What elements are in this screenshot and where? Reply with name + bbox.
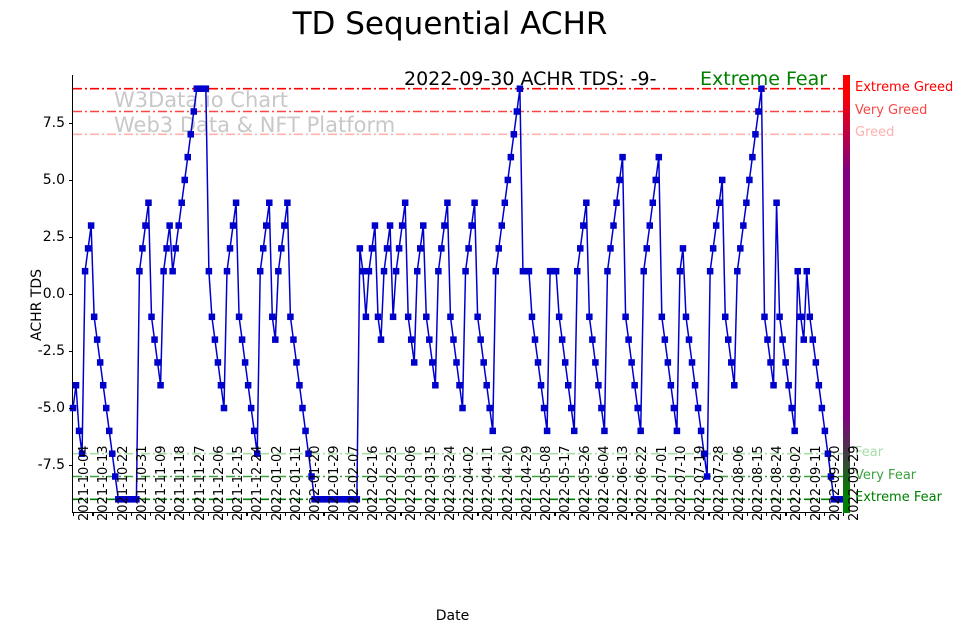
data-point-marker bbox=[88, 222, 94, 229]
data-point-marker bbox=[659, 314, 666, 321]
y-tick-mark bbox=[69, 408, 73, 409]
data-point-marker bbox=[212, 336, 219, 343]
data-point-marker bbox=[804, 268, 811, 275]
data-point-marker bbox=[586, 314, 593, 321]
x-tick-mark bbox=[343, 512, 344, 516]
x-tick-label: 2021-11-09 bbox=[154, 445, 169, 521]
page-title: TD Sequential ACHR bbox=[0, 6, 900, 42]
x-tick-label: 2022-07-01 bbox=[655, 445, 670, 521]
data-point-marker bbox=[674, 428, 681, 435]
data-point-marker bbox=[562, 359, 569, 366]
x-tick-label: 2022-01-20 bbox=[308, 445, 323, 521]
x-tick-mark bbox=[651, 512, 652, 516]
data-point-marker bbox=[695, 405, 702, 412]
x-tick-mark bbox=[689, 512, 690, 516]
data-point-marker bbox=[178, 200, 185, 207]
x-tick-label: 2022-05-26 bbox=[578, 445, 593, 521]
data-point-marker bbox=[450, 336, 457, 343]
threshold-label-greed: Greed bbox=[855, 125, 894, 140]
series-line bbox=[73, 89, 843, 500]
data-point-marker bbox=[628, 359, 635, 366]
x-tick-mark bbox=[785, 512, 786, 516]
data-point-marker bbox=[293, 359, 300, 366]
data-point-marker bbox=[580, 222, 587, 229]
data-point-marker bbox=[191, 108, 198, 115]
data-point-marker bbox=[517, 85, 524, 92]
data-point-marker bbox=[731, 382, 738, 389]
data-point-marker bbox=[607, 245, 614, 252]
x-tick-label: 2022-03-15 bbox=[424, 445, 439, 521]
data-point-marker bbox=[465, 245, 472, 252]
data-point-marker bbox=[408, 336, 415, 343]
data-point-marker bbox=[429, 359, 436, 366]
x-tick-label: 2022-08-15 bbox=[751, 445, 766, 521]
data-point-marker bbox=[278, 245, 285, 252]
x-tick-label: 2022-01-29 bbox=[327, 445, 342, 521]
x-tick-label: 2022-03-24 bbox=[443, 445, 458, 521]
data-point-marker bbox=[737, 245, 744, 252]
data-point-marker bbox=[698, 428, 705, 435]
x-tick-label: 2022-04-29 bbox=[520, 445, 535, 521]
data-point-marker bbox=[544, 428, 551, 435]
x-tick-label: 2022-09-29 bbox=[847, 445, 862, 521]
data-point-marker bbox=[719, 177, 726, 184]
x-tick-label: 2022-05-08 bbox=[539, 445, 554, 521]
data-point-marker bbox=[203, 85, 210, 92]
x-tick-label: 2022-03-06 bbox=[404, 445, 419, 521]
data-point-marker bbox=[514, 108, 521, 115]
y-tick-mark bbox=[69, 465, 73, 466]
y-tick-mark bbox=[69, 180, 73, 181]
data-point-marker bbox=[568, 405, 575, 412]
data-point-marker bbox=[175, 222, 182, 229]
y-tick-label: -7.5 bbox=[5, 457, 65, 473]
data-point-marker bbox=[728, 359, 735, 366]
x-tick-label: 2022-02-16 bbox=[366, 445, 381, 521]
data-point-marker bbox=[103, 405, 110, 412]
data-point-marker bbox=[734, 268, 741, 275]
data-point-marker bbox=[166, 222, 173, 229]
data-point-marker bbox=[791, 428, 798, 435]
data-point-marker bbox=[209, 314, 216, 321]
x-tick-label: 2022-08-06 bbox=[732, 445, 747, 521]
data-point-marker bbox=[260, 245, 267, 252]
data-point-marker bbox=[266, 200, 273, 207]
y-tick-label: 0.0 bbox=[5, 286, 65, 302]
data-point-marker bbox=[426, 336, 433, 343]
data-point-marker bbox=[251, 428, 258, 435]
data-point-marker bbox=[76, 428, 83, 435]
x-tick-mark bbox=[92, 512, 93, 516]
x-tick-mark bbox=[73, 512, 74, 516]
figure: TD Sequential ACHR W3Data.io Chart Web3 … bbox=[0, 0, 967, 633]
data-point-marker bbox=[752, 131, 759, 138]
data-point-marker bbox=[598, 405, 605, 412]
data-point-marker bbox=[441, 222, 448, 229]
data-point-marker bbox=[148, 314, 155, 321]
data-point-marker bbox=[643, 245, 650, 252]
data-point-marker bbox=[296, 382, 303, 389]
data-point-marker bbox=[511, 131, 518, 138]
y-tick-label: 5.0 bbox=[5, 172, 65, 188]
data-point-marker bbox=[459, 405, 466, 412]
data-point-marker bbox=[810, 336, 817, 343]
data-point-marker bbox=[82, 268, 89, 275]
data-point-marker bbox=[489, 428, 496, 435]
data-point-marker bbox=[245, 382, 252, 389]
data-point-marker bbox=[411, 359, 418, 366]
data-point-marker bbox=[185, 154, 192, 161]
data-point-marker bbox=[755, 108, 762, 115]
data-point-marker bbox=[188, 131, 195, 138]
data-point-marker bbox=[779, 336, 786, 343]
data-point-marker bbox=[574, 268, 581, 275]
x-axis-label: Date bbox=[0, 608, 905, 624]
data-point-marker bbox=[263, 222, 270, 229]
data-point-marker bbox=[483, 382, 490, 389]
y-tick-label: 7.5 bbox=[5, 115, 65, 131]
data-point-marker bbox=[526, 268, 533, 275]
data-point-marker bbox=[758, 85, 765, 92]
x-tick-label: 2022-01-11 bbox=[289, 445, 304, 521]
data-point-marker bbox=[163, 245, 170, 252]
data-point-marker bbox=[438, 245, 445, 252]
x-tick-label: 2022-07-19 bbox=[693, 445, 708, 521]
data-point-marker bbox=[650, 200, 657, 207]
data-point-marker bbox=[529, 314, 536, 321]
x-tick-mark bbox=[420, 512, 421, 516]
data-point-marker bbox=[788, 405, 795, 412]
data-point-marker bbox=[447, 314, 454, 321]
data-point-marker bbox=[634, 405, 641, 412]
data-point-marker bbox=[206, 268, 213, 275]
data-point-marker bbox=[405, 314, 412, 321]
data-point-marker bbox=[233, 200, 240, 207]
data-point-marker bbox=[169, 268, 176, 275]
data-point-marker bbox=[819, 405, 826, 412]
data-point-marker bbox=[653, 177, 660, 184]
threshold-label-very-greed: Very Greed bbox=[855, 103, 927, 118]
data-point-marker bbox=[716, 200, 723, 207]
data-point-marker bbox=[553, 268, 560, 275]
data-point-marker bbox=[556, 314, 563, 321]
y-tick-mark bbox=[69, 351, 73, 352]
data-point-marker bbox=[532, 336, 539, 343]
data-point-marker bbox=[619, 154, 626, 161]
data-point-marker bbox=[613, 200, 620, 207]
x-tick-mark bbox=[535, 512, 536, 516]
data-point-marker bbox=[417, 245, 424, 252]
data-point-marker bbox=[671, 405, 678, 412]
data-point-marker bbox=[444, 200, 451, 207]
data-point-marker bbox=[73, 382, 80, 389]
data-point-marker bbox=[100, 382, 107, 389]
data-point-marker bbox=[683, 314, 690, 321]
data-point-marker bbox=[399, 222, 406, 229]
data-point-marker bbox=[181, 177, 188, 184]
data-point-marker bbox=[435, 268, 442, 275]
data-point-marker bbox=[142, 222, 149, 229]
data-point-marker bbox=[480, 359, 487, 366]
data-point-marker bbox=[665, 359, 672, 366]
x-tick-mark bbox=[574, 512, 575, 516]
data-point-marker bbox=[363, 314, 370, 321]
data-point-marker bbox=[172, 245, 179, 252]
data-point-marker bbox=[366, 268, 373, 275]
x-tick-label: 2022-07-28 bbox=[712, 445, 727, 521]
data-point-marker bbox=[275, 268, 282, 275]
data-point-marker bbox=[807, 314, 814, 321]
data-point-marker bbox=[423, 314, 430, 321]
data-point-marker bbox=[625, 336, 632, 343]
x-tick-label: 2022-06-13 bbox=[616, 445, 631, 521]
data-point-marker bbox=[281, 222, 288, 229]
x-tick-label: 2022-04-11 bbox=[481, 445, 496, 521]
data-point-marker bbox=[94, 336, 101, 343]
data-point-marker bbox=[773, 200, 780, 207]
data-point-marker bbox=[583, 200, 590, 207]
x-tick-label: 2022-06-04 bbox=[597, 445, 612, 521]
data-point-marker bbox=[414, 268, 421, 275]
data-point-marker bbox=[656, 154, 663, 161]
data-point-marker bbox=[378, 336, 385, 343]
data-point-marker bbox=[372, 222, 379, 229]
data-point-marker bbox=[269, 314, 276, 321]
data-point-marker bbox=[221, 405, 228, 412]
x-tick-mark bbox=[169, 512, 170, 516]
data-point-marker bbox=[387, 222, 394, 229]
data-point-marker bbox=[91, 314, 98, 321]
data-point-marker bbox=[764, 336, 771, 343]
x-tick-label: 2021-11-18 bbox=[173, 445, 188, 521]
data-point-marker bbox=[139, 245, 146, 252]
data-point-marker bbox=[151, 336, 158, 343]
data-point-marker bbox=[746, 177, 753, 184]
data-point-marker bbox=[785, 382, 792, 389]
data-point-marker bbox=[360, 268, 367, 275]
data-point-marker bbox=[160, 268, 167, 275]
data-point-marker bbox=[538, 382, 545, 389]
data-point-marker bbox=[595, 382, 602, 389]
data-point-marker bbox=[707, 268, 714, 275]
x-tick-label: 2021-10-22 bbox=[116, 445, 131, 521]
y-tick-label: -5.0 bbox=[5, 400, 65, 416]
data-point-marker bbox=[725, 336, 732, 343]
data-point-marker bbox=[236, 314, 243, 321]
x-tick-mark bbox=[150, 512, 151, 516]
data-point-marker bbox=[761, 314, 768, 321]
data-point-marker bbox=[541, 405, 548, 412]
y-tick-mark bbox=[69, 294, 73, 295]
x-tick-mark bbox=[266, 512, 267, 516]
x-tick-mark bbox=[458, 512, 459, 516]
y-axis-label: ACHR TDS bbox=[29, 269, 45, 341]
data-point-marker bbox=[502, 200, 509, 207]
x-tick-mark bbox=[708, 512, 709, 516]
threshold-label-extreme-greed: Extreme Greed bbox=[855, 80, 953, 95]
x-tick-label: 2021-12-24 bbox=[250, 445, 265, 521]
threshold-label-very-fear: Very Fear bbox=[855, 468, 916, 483]
x-tick-label: 2022-07-10 bbox=[674, 445, 689, 521]
data-point-marker bbox=[592, 359, 599, 366]
x-tick-mark bbox=[728, 512, 729, 516]
data-point-marker bbox=[499, 222, 506, 229]
data-point-marker bbox=[508, 154, 514, 161]
data-point-marker bbox=[631, 382, 638, 389]
data-point-marker bbox=[290, 336, 297, 343]
data-point-marker bbox=[713, 222, 720, 229]
data-point-marker bbox=[797, 314, 804, 321]
data-point-marker bbox=[535, 359, 542, 366]
data-point-marker bbox=[215, 359, 222, 366]
data-point-marker bbox=[272, 336, 279, 343]
data-point-marker bbox=[616, 177, 623, 184]
data-point-marker bbox=[813, 359, 820, 366]
data-point-marker bbox=[381, 268, 388, 275]
data-point-marker bbox=[420, 222, 427, 229]
data-point-marker bbox=[230, 222, 237, 229]
x-tick-mark bbox=[805, 512, 806, 516]
y-tick-label: 2.5 bbox=[5, 229, 65, 245]
data-point-marker bbox=[640, 268, 647, 275]
x-tick-mark bbox=[304, 512, 305, 516]
data-point-marker bbox=[284, 200, 291, 207]
x-tick-label: 2021-10-04 bbox=[77, 445, 92, 521]
x-tick-label: 2022-02-07 bbox=[347, 445, 362, 521]
y-tick-mark bbox=[69, 123, 73, 124]
x-tick-mark bbox=[381, 512, 382, 516]
data-point-marker bbox=[248, 405, 255, 412]
data-point-marker bbox=[456, 382, 463, 389]
x-tick-mark bbox=[189, 512, 190, 516]
data-point-marker bbox=[794, 268, 801, 275]
data-point-marker bbox=[474, 314, 481, 321]
x-tick-label: 2022-05-17 bbox=[558, 445, 573, 521]
data-point-marker bbox=[782, 359, 789, 366]
data-point-marker bbox=[601, 428, 608, 435]
x-tick-label: 2022-01-02 bbox=[270, 445, 285, 521]
data-point-marker bbox=[743, 200, 750, 207]
data-point-marker bbox=[227, 245, 234, 252]
x-tick-mark bbox=[246, 512, 247, 516]
data-point-marker bbox=[239, 336, 246, 343]
x-tick-mark bbox=[400, 512, 401, 516]
data-point-marker bbox=[776, 314, 783, 321]
x-tick-mark bbox=[631, 512, 632, 516]
data-point-marker bbox=[565, 382, 572, 389]
data-point-marker bbox=[710, 245, 717, 252]
x-tick-label: 2021-12-15 bbox=[231, 445, 246, 521]
data-point-marker bbox=[136, 268, 143, 275]
series-plot bbox=[73, 75, 843, 513]
data-point-marker bbox=[559, 336, 566, 343]
data-point-marker bbox=[299, 405, 306, 412]
data-point-marker bbox=[224, 268, 231, 275]
threshold-label-extreme-fear: Extreme Fear bbox=[855, 490, 942, 505]
data-point-marker bbox=[647, 222, 654, 229]
data-point-marker bbox=[610, 222, 617, 229]
data-point-marker bbox=[692, 382, 699, 389]
data-point-marker bbox=[689, 359, 696, 366]
x-tick-mark bbox=[227, 512, 228, 516]
x-tick-label: 2021-10-13 bbox=[96, 445, 111, 521]
data-point-marker bbox=[622, 314, 629, 321]
x-tick-mark bbox=[766, 512, 767, 516]
data-point-marker bbox=[637, 428, 644, 435]
data-point-marker bbox=[402, 200, 409, 207]
data-point-marker bbox=[493, 268, 500, 275]
data-point-marker bbox=[662, 336, 669, 343]
x-tick-label: 2022-04-20 bbox=[501, 445, 516, 521]
data-point-marker bbox=[471, 200, 478, 207]
data-point-marker bbox=[257, 268, 264, 275]
data-point-marker bbox=[571, 428, 578, 435]
data-point-marker bbox=[97, 359, 104, 366]
x-tick-label: 2021-11-27 bbox=[193, 445, 208, 521]
data-point-marker bbox=[432, 382, 439, 389]
data-point-marker bbox=[604, 268, 611, 275]
data-point-marker bbox=[770, 382, 777, 389]
x-tick-label: 2022-08-24 bbox=[770, 445, 785, 521]
data-point-marker bbox=[816, 382, 823, 389]
data-point-marker bbox=[218, 382, 225, 389]
x-tick-mark bbox=[323, 512, 324, 516]
x-tick-mark bbox=[554, 512, 555, 516]
data-point-marker bbox=[740, 222, 747, 229]
data-point-marker bbox=[390, 314, 397, 321]
data-point-marker bbox=[722, 314, 729, 321]
y-tick-label: -2.5 bbox=[5, 343, 65, 359]
data-point-marker bbox=[375, 314, 382, 321]
data-point-marker bbox=[287, 314, 294, 321]
data-point-marker bbox=[396, 245, 403, 252]
x-tick-label: 2022-04-02 bbox=[462, 445, 477, 521]
data-point-marker bbox=[384, 245, 391, 252]
data-point-marker bbox=[302, 428, 309, 435]
data-point-marker bbox=[154, 359, 161, 366]
data-point-marker bbox=[577, 245, 584, 252]
x-tick-mark bbox=[497, 512, 498, 516]
data-point-marker bbox=[106, 428, 113, 435]
data-point-marker bbox=[477, 336, 484, 343]
data-point-marker bbox=[145, 200, 152, 207]
data-point-marker bbox=[505, 177, 512, 184]
x-tick-label: 2022-02-25 bbox=[385, 445, 400, 521]
data-point-marker bbox=[462, 268, 469, 275]
data-point-marker bbox=[468, 222, 475, 229]
x-tick-label: 2022-09-02 bbox=[789, 445, 804, 521]
data-point-marker bbox=[486, 405, 493, 412]
x-tick-mark bbox=[112, 512, 113, 516]
x-tick-mark bbox=[477, 512, 478, 516]
data-point-marker bbox=[677, 268, 684, 275]
x-tick-label: 2022-06-22 bbox=[635, 445, 650, 521]
data-point-marker bbox=[822, 428, 829, 435]
data-point-marker bbox=[749, 154, 756, 161]
data-point-marker bbox=[589, 336, 596, 343]
data-point-marker bbox=[242, 359, 249, 366]
y-tick-mark bbox=[69, 237, 73, 238]
x-tick-mark bbox=[612, 512, 613, 516]
data-point-marker bbox=[801, 336, 808, 343]
data-point-marker bbox=[453, 359, 460, 366]
x-tick-label: 2022-09-20 bbox=[828, 445, 843, 521]
data-point-marker bbox=[369, 245, 376, 252]
data-point-marker bbox=[686, 336, 693, 343]
x-tick-label: 2022-09-11 bbox=[809, 445, 824, 521]
data-point-marker bbox=[668, 382, 675, 389]
data-point-marker bbox=[393, 268, 400, 275]
